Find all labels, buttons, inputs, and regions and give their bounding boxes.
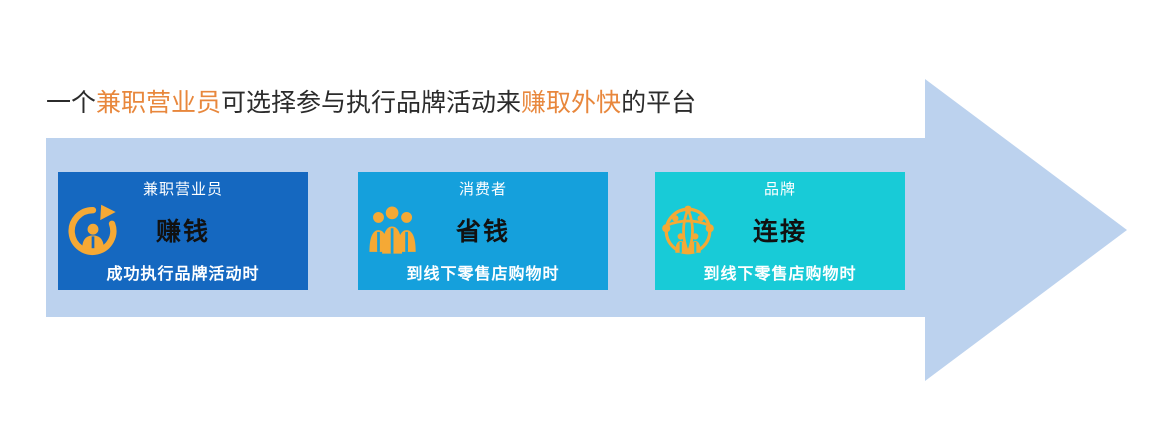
card-part-time-clerk[interactable]: 兼职营业员 赚钱 成功执行品牌活动时 bbox=[58, 172, 308, 290]
card-brand[interactable]: 品牌 连接 到线下零售店购物时 bbox=[655, 172, 905, 290]
card-footer: 到线下零售店购物时 bbox=[655, 260, 905, 284]
card-main-label: 省钱 bbox=[358, 212, 608, 248]
card-footer: 到线下零售店购物时 bbox=[358, 260, 608, 284]
title-segment-2: 可选择参与执行品牌活动来 bbox=[221, 90, 521, 117]
card-consumer[interactable]: 消费者 省钱 到线下零售店购物时 bbox=[358, 172, 608, 290]
diagram-canvas: 一个兼职营业员可选择参与执行品牌活动来赚取外快的平台 兼职营业员 赚钱 成功执行… bbox=[0, 0, 1150, 430]
card-main-label: 赚钱 bbox=[58, 212, 308, 248]
title-segment-0: 一个 bbox=[46, 90, 96, 117]
card-header: 消费者 bbox=[358, 178, 608, 199]
card-main-label: 连接 bbox=[655, 212, 905, 248]
page-title: 一个兼职营业员可选择参与执行品牌活动来赚取外快的平台 bbox=[46, 88, 696, 120]
card-header: 品牌 bbox=[655, 178, 905, 199]
card-footer: 成功执行品牌活动时 bbox=[58, 260, 308, 284]
title-segment-1: 兼职营业员 bbox=[96, 90, 221, 117]
card-header: 兼职营业员 bbox=[58, 178, 308, 199]
title-segment-3: 赚取外快 bbox=[521, 90, 621, 117]
title-segment-4: 的平台 bbox=[621, 90, 696, 117]
